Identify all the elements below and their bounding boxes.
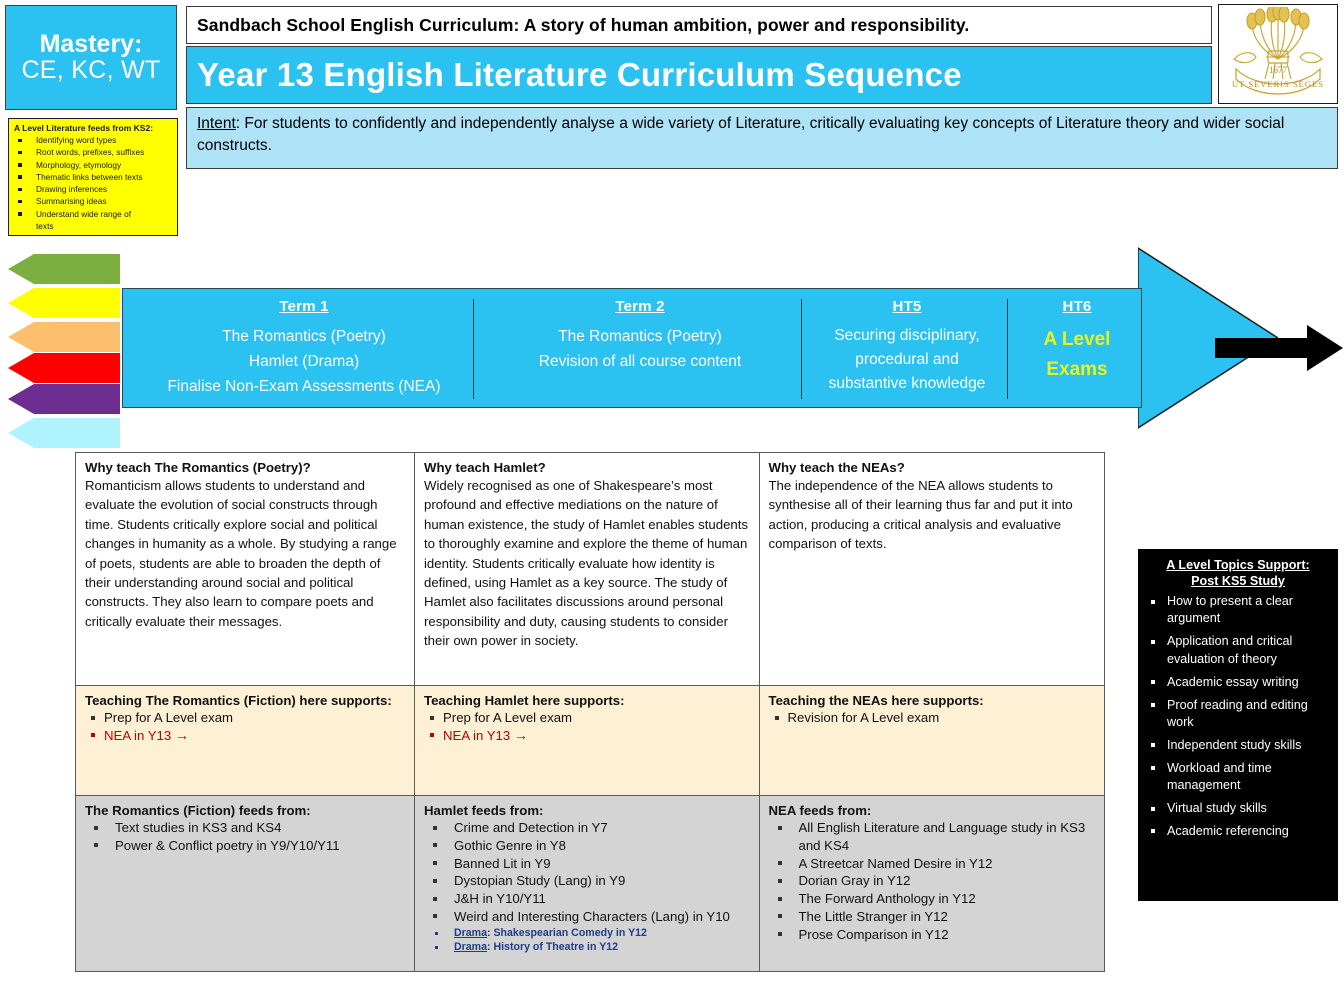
column-body: Securing disciplinary, procedural and su… <box>829 324 986 396</box>
support-panel-list: How to present a clear argument Applicat… <box>1145 593 1331 840</box>
light-blue-arrow <box>8 418 120 448</box>
timeline-banner-body: Term 1 The Romantics (Poetry) Hamlet (Dr… <box>122 288 1142 408</box>
list-item: Dorian Gray in Y12 <box>769 872 1096 890</box>
support-panel-title-line1: A Level Topics Support: <box>1145 557 1331 573</box>
green-arrow <box>8 254 120 284</box>
ks2-feeds-box: A Level Literature feeds from KS2: Ident… <box>8 118 178 236</box>
list-item: Understand wide range of <box>14 208 173 220</box>
column-body: The Romantics (Poetry) Revision of all c… <box>539 324 741 374</box>
list-item: How to present a clear argument <box>1145 593 1331 628</box>
school-crest: 1677 UT SEVERIS SEGES <box>1218 4 1338 104</box>
curriculum-title: Sandbach School English Curriculum: A st… <box>186 6 1212 44</box>
feeds-list: Text studies in KS3 and KS4 Power & Conf… <box>85 819 405 855</box>
list-item: Academic referencing <box>1145 823 1331 840</box>
curriculum-timeline-banner: Term 1 The Romantics (Poetry) Hamlet (Dr… <box>0 248 1344 458</box>
list-item: Root words, prefixes, suffixes <box>14 146 173 158</box>
purple-arrow <box>8 384 120 414</box>
list-item-nea[interactable]: NEA in Y13 → <box>85 727 405 745</box>
column-line: Exams <box>1044 355 1111 385</box>
wheat-sheaf-icon: 1677 UT SEVERIS SEGES <box>1222 7 1334 101</box>
cell-heading: Hamlet feeds from: <box>424 802 750 819</box>
neas-supports-cell: Teaching the NEAs here supports: Revisio… <box>760 686 1105 796</box>
list-item: Prep for A Level exam <box>85 709 405 727</box>
cell-heading: Why teach Hamlet? <box>424 459 750 476</box>
nea-feeds-cell: NEA feeds from: All English Literature a… <box>760 796 1105 971</box>
column-line: The Romantics (Poetry) <box>167 324 440 349</box>
list-item: Independent study skills <box>1145 737 1331 754</box>
column-line: substantive knowledge <box>829 372 986 396</box>
list-item-drama-link[interactable]: Drama: History of Theatre in Y12 <box>424 940 750 954</box>
list-item: Prose Comparison in Y12 <box>769 926 1096 944</box>
list-item-continuation: texts <box>14 220 173 232</box>
column-heading: Term 1 <box>279 298 328 315</box>
column-divider <box>801 299 802 399</box>
right-arrow-icon: → <box>514 727 528 743</box>
hamlet-supports-cell: Teaching Hamlet here supports: Prep for … <box>415 686 760 796</box>
list-item: The Forward Anthology in Y12 <box>769 890 1096 908</box>
intent-text: : For students to confidently and indepe… <box>197 115 1284 154</box>
crest-motto: UT SEVERIS SEGES <box>1232 79 1324 89</box>
ks2-items-list: Identifying word types Root words, prefi… <box>14 134 173 232</box>
timeline-column-term2[interactable]: Term 2 The Romantics (Poetry) Revision o… <box>479 289 801 407</box>
mastery-label: Mastery: <box>40 31 143 57</box>
mastery-codes: CE, KC, WT <box>21 57 160 85</box>
list-item: Drawing inferences <box>14 183 173 195</box>
a-level-topics-support-panel: A Level Topics Support: Post KS5 Study H… <box>1138 549 1338 901</box>
supports-list: Prep for A Level exam NEA in Y13 → <box>85 709 405 744</box>
list-item: Morphology, etymology <box>14 159 173 171</box>
list-item: Proof reading and editing work <box>1145 697 1331 732</box>
page-title: Year 13 English Literature Curriculum Se… <box>186 46 1212 104</box>
column-body-highlight: A Level Exams <box>1044 325 1111 385</box>
list-item: Gothic Genre in Y8 <box>424 837 750 855</box>
red-arrow <box>8 353 120 383</box>
column-heading: HT6 <box>1063 298 1092 315</box>
right-arrow-icon: → <box>175 727 189 743</box>
list-item: J&H in Y10/Y11 <box>424 890 750 908</box>
column-divider <box>1007 299 1008 399</box>
timeline-column-term1[interactable]: Term 1 The Romantics (Poetry) Hamlet (Dr… <box>135 289 473 407</box>
list-item: Banned Lit in Y9 <box>424 855 750 873</box>
column-line: Hamlet (Drama) <box>167 349 440 374</box>
column-divider <box>473 299 474 399</box>
column-heading: Term 2 <box>615 298 664 315</box>
timeline-column-ht5[interactable]: HT5 Securing disciplinary, procedural an… <box>807 289 1007 407</box>
column-line: A Level <box>1044 325 1111 355</box>
supports-list: Prep for A Level exam NEA in Y13 → <box>424 709 750 744</box>
cell-body: The independence of the NEA allows stude… <box>769 476 1096 554</box>
why-teach-hamlet-cell: Why teach Hamlet? Widely recognised as o… <box>415 453 760 686</box>
list-item: Application and critical evaluation of t… <box>1145 633 1331 668</box>
column-line: Finalise Non-Exam Assessments (NEA) <box>167 374 440 399</box>
why-teach-romantics-cell: Why teach The Romantics (Poetry)? Romant… <box>76 453 415 686</box>
column-line: The Romantics (Poetry) <box>539 324 741 349</box>
list-item: Workload and time management <box>1145 760 1331 795</box>
black-right-arrow-icon <box>1215 323 1343 373</box>
cell-heading: Why teach the NEAs? <box>769 459 1096 476</box>
list-item: A Streetcar Named Desire in Y12 <box>769 855 1096 873</box>
cell-body: Widely recognised as one of Shakespeare’… <box>424 476 750 651</box>
list-item: Academic essay writing <box>1145 674 1331 691</box>
intent-statement: Intent: For students to confidently and … <box>186 107 1338 169</box>
cell-heading: Teaching Hamlet here supports: <box>424 692 750 709</box>
list-item: Summarising ideas <box>14 195 173 207</box>
feeds-list: Crime and Detection in Y7 Gothic Genre i… <box>424 819 750 955</box>
list-item: Crime and Detection in Y7 <box>424 819 750 837</box>
intent-label: Intent <box>197 115 236 132</box>
list-item: Thematic links between texts <box>14 171 173 183</box>
cell-heading: Teaching The Romantics (Fiction) here su… <box>85 692 405 709</box>
list-item-nea[interactable]: NEA in Y13 → <box>424 727 750 745</box>
cell-heading: Why teach The Romantics (Poetry)? <box>85 459 405 476</box>
column-line: Revision of all course content <box>539 349 741 374</box>
list-item: Revision for A Level exam <box>769 709 1096 727</box>
list-item: Text studies in KS3 and KS4 <box>85 819 405 837</box>
yellow-arrow <box>8 288 120 318</box>
column-heading: HT5 <box>893 298 922 315</box>
ks2-box-title: A Level Literature feeds from KS2: <box>14 123 173 133</box>
why-teach-neas-cell: Why teach the NEAs? The independence of … <box>760 453 1105 686</box>
list-item: Identifying word types <box>14 134 173 146</box>
curriculum-rationale-table: Why teach The Romantics (Poetry)? Romant… <box>75 452 1105 972</box>
cell-heading: The Romantics (Fiction) feeds from: <box>85 802 405 819</box>
mastery-box: Mastery: CE, KC, WT <box>5 5 177 110</box>
list-item-drama-link[interactable]: Drama: Shakespearian Comedy in Y12 <box>424 926 750 940</box>
list-item: Weird and Interesting Characters (Lang) … <box>424 908 750 926</box>
orange-arrow <box>8 322 120 352</box>
romantics-feeds-cell: The Romantics (Fiction) feeds from: Text… <box>76 796 415 971</box>
crest-year: 1677 <box>1269 65 1288 75</box>
cell-heading: Teaching the NEAs here supports: <box>769 692 1096 709</box>
support-panel-title-line2: Post KS5 Study <box>1145 573 1331 589</box>
list-item: Power & Conflict poetry in Y9/Y10/Y11 <box>85 837 405 855</box>
romantics-supports-cell: Teaching The Romantics (Fiction) here su… <box>76 686 415 796</box>
feeds-list: All English Literature and Language stud… <box>769 819 1096 944</box>
hamlet-feeds-cell: Hamlet feeds from: Crime and Detection i… <box>415 796 760 971</box>
supports-list: Revision for A Level exam <box>769 709 1096 727</box>
cell-heading: NEA feeds from: <box>769 802 1096 819</box>
list-item: Virtual study skills <box>1145 800 1331 817</box>
cell-body: Romanticism allows students to understan… <box>85 476 405 631</box>
column-body: The Romantics (Poetry) Hamlet (Drama) Fi… <box>167 324 440 399</box>
list-item: All English Literature and Language stud… <box>769 819 1096 855</box>
list-item: Dystopian Study (Lang) in Y9 <box>424 872 750 890</box>
list-item: Prep for A Level exam <box>424 709 750 727</box>
timeline-column-ht6[interactable]: HT6 A Level Exams <box>1013 289 1141 407</box>
support-panel-title: A Level Topics Support: Post KS5 Study <box>1145 557 1331 589</box>
column-line: Securing disciplinary, <box>829 324 986 348</box>
list-item: The Little Stranger in Y12 <box>769 908 1096 926</box>
column-line: procedural and <box>829 348 986 372</box>
